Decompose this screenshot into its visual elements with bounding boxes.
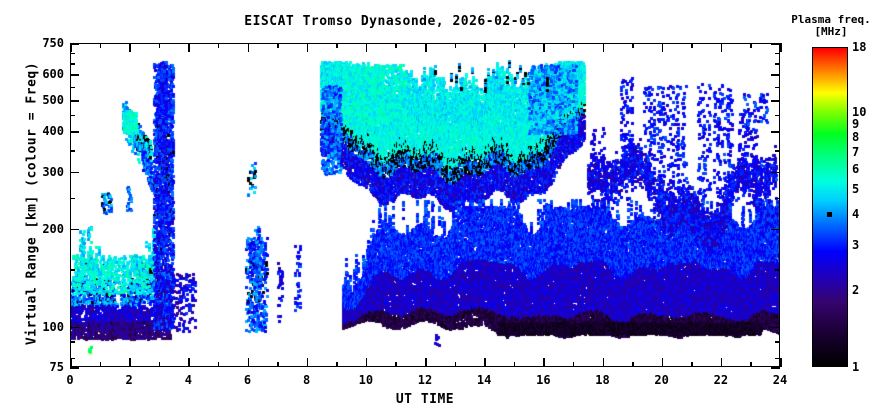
y-tick-mark xyxy=(70,229,79,231)
x-tick-mark xyxy=(543,358,545,367)
x-tick-label: 8 xyxy=(287,373,327,387)
y-tick-mark xyxy=(70,131,79,133)
y-tick-mark-right xyxy=(771,367,780,369)
x-tick-label: 10 xyxy=(346,373,386,387)
y-tick-mark xyxy=(70,74,79,76)
y-tick-mark-right xyxy=(775,53,780,55)
colorbar-tick-label: 6 xyxy=(852,162,859,176)
page-title: EISCAT Tromso Dynasonde, 2026-02-05 xyxy=(0,14,780,29)
y-tick-mark-right xyxy=(775,87,780,89)
y-tick-mark-right xyxy=(775,269,780,271)
x-tick-mark-top xyxy=(188,43,190,52)
x-tick-mark xyxy=(780,358,782,367)
x-tick-mark xyxy=(159,362,161,367)
y-tick-label: 200 xyxy=(26,222,64,236)
x-tick-mark-top xyxy=(484,43,486,52)
x-tick-mark-top xyxy=(691,43,693,48)
x-tick-mark-top xyxy=(662,43,664,52)
x-tick-label: 16 xyxy=(523,373,563,387)
x-tick-mark xyxy=(750,362,752,367)
x-tick-mark-top xyxy=(336,43,338,48)
y-tick-mark-right xyxy=(775,63,780,65)
x-tick-label: 14 xyxy=(464,373,504,387)
y-tick-mark-right xyxy=(771,100,780,102)
y-tick-mark xyxy=(70,172,79,174)
x-tick-label: 4 xyxy=(168,373,208,387)
x-tick-label: 0 xyxy=(50,373,90,387)
x-tick-mark-top xyxy=(543,43,545,52)
ionogram-plot-page: EISCAT Tromso Dynasonde, 2026-02-05 Virt… xyxy=(0,0,880,420)
x-tick-mark-top xyxy=(70,43,72,52)
y-tick-label: 100 xyxy=(26,320,64,334)
colorbar-title-line2: [MHz] xyxy=(814,25,847,38)
y-tick-mark xyxy=(70,198,75,200)
x-tick-mark xyxy=(129,358,131,367)
x-tick-mark xyxy=(218,362,220,367)
x-tick-mark xyxy=(632,362,634,367)
y-tick-label: 75 xyxy=(26,360,64,374)
x-tick-mark xyxy=(662,358,664,367)
x-tick-mark-top xyxy=(277,43,279,48)
colorbar-tick-label: 8 xyxy=(852,130,859,144)
colorbar-tick-label: 5 xyxy=(852,182,859,196)
x-tick-mark xyxy=(70,358,72,367)
y-tick-mark-right xyxy=(771,131,780,133)
y-tick-mark-right xyxy=(771,172,780,174)
x-tick-mark xyxy=(721,358,723,367)
x-tick-mark-top xyxy=(750,43,752,48)
y-tick-mark xyxy=(70,150,75,152)
x-tick-mark xyxy=(277,362,279,367)
colorbar-tick-label: 10 xyxy=(852,105,866,119)
x-tick-mark xyxy=(307,358,309,367)
x-tick-mark-top xyxy=(129,43,131,52)
colorbar-title: Plasma freq.[MHz] xyxy=(782,14,880,38)
x-tick-mark xyxy=(336,362,338,367)
y-tick-mark-right xyxy=(775,150,780,152)
x-tick-label: 2 xyxy=(109,373,149,387)
y-tick-mark xyxy=(70,269,75,271)
x-tick-mark-top xyxy=(780,43,782,52)
y-axis-label: Virtual Range [km] (colour = Freq) xyxy=(25,44,40,364)
y-tick-mark xyxy=(70,115,75,117)
y-tick-mark-right xyxy=(771,327,780,329)
colorbar-tick-label: 1 xyxy=(852,360,859,374)
x-tick-mark xyxy=(455,362,457,367)
echo-scatter-canvas xyxy=(71,44,780,367)
y-tick-mark xyxy=(70,87,75,89)
x-tick-mark-top xyxy=(218,43,220,48)
y-tick-mark xyxy=(70,341,75,343)
colorbar-tick-label: 18 xyxy=(852,40,866,54)
y-tick-label: 300 xyxy=(26,165,64,179)
colorbar-tick-label: 4 xyxy=(852,207,859,221)
x-tick-mark-top xyxy=(307,43,309,52)
x-tick-mark-top xyxy=(425,43,427,52)
colorbar xyxy=(812,47,848,367)
x-tick-mark xyxy=(100,362,102,367)
x-tick-mark-top xyxy=(100,43,102,48)
y-tick-mark xyxy=(70,367,79,369)
x-tick-mark xyxy=(603,358,605,367)
y-tick-mark-right xyxy=(771,229,780,231)
x-tick-mark-top xyxy=(366,43,368,52)
x-tick-mark xyxy=(514,362,516,367)
x-tick-mark xyxy=(248,358,250,367)
x-tick-label: 6 xyxy=(228,373,268,387)
x-tick-mark-top xyxy=(455,43,457,48)
x-tick-mark xyxy=(366,358,368,367)
x-tick-mark xyxy=(395,362,397,367)
y-tick-mark-right xyxy=(771,74,780,76)
y-tick-mark-right xyxy=(775,341,780,343)
colorbar-tick-label: 3 xyxy=(852,238,859,252)
y-tick-mark xyxy=(70,63,75,65)
x-tick-mark-top xyxy=(159,43,161,48)
y-tick-mark-right xyxy=(771,43,780,45)
y-tick-mark xyxy=(70,100,79,102)
y-tick-mark xyxy=(70,53,75,55)
y-tick-mark-right xyxy=(775,115,780,117)
plot-frame xyxy=(70,43,780,367)
x-tick-mark-top xyxy=(632,43,634,48)
colorbar-tick-label: 2 xyxy=(852,283,859,297)
x-tick-label: 12 xyxy=(405,373,445,387)
x-axis-label: UT TIME xyxy=(70,392,780,407)
x-tick-mark xyxy=(484,358,486,367)
x-tick-mark-top xyxy=(573,43,575,48)
x-tick-mark-top xyxy=(603,43,605,52)
x-tick-mark-top xyxy=(514,43,516,48)
x-tick-label: 22 xyxy=(701,373,741,387)
y-tick-mark xyxy=(70,327,79,329)
y-tick-mark-right xyxy=(775,198,780,200)
y-tick-label: 600 xyxy=(26,67,64,81)
x-tick-label: 20 xyxy=(642,373,682,387)
x-tick-label: 18 xyxy=(583,373,623,387)
colorbar-gradient xyxy=(813,48,847,366)
colorbar-tick-label: 7 xyxy=(852,145,859,159)
x-tick-mark xyxy=(425,358,427,367)
x-tick-mark-top xyxy=(721,43,723,52)
x-tick-mark-top xyxy=(248,43,250,52)
x-tick-mark xyxy=(188,358,190,367)
y-tick-label: 750 xyxy=(26,36,64,50)
x-tick-mark xyxy=(573,362,575,367)
colorbar-value-marker xyxy=(827,212,832,217)
y-tick-label: 400 xyxy=(26,124,64,138)
x-tick-mark xyxy=(691,362,693,367)
x-tick-label: 24 xyxy=(760,373,800,387)
y-tick-label: 500 xyxy=(26,93,64,107)
x-tick-mark-top xyxy=(395,43,397,48)
